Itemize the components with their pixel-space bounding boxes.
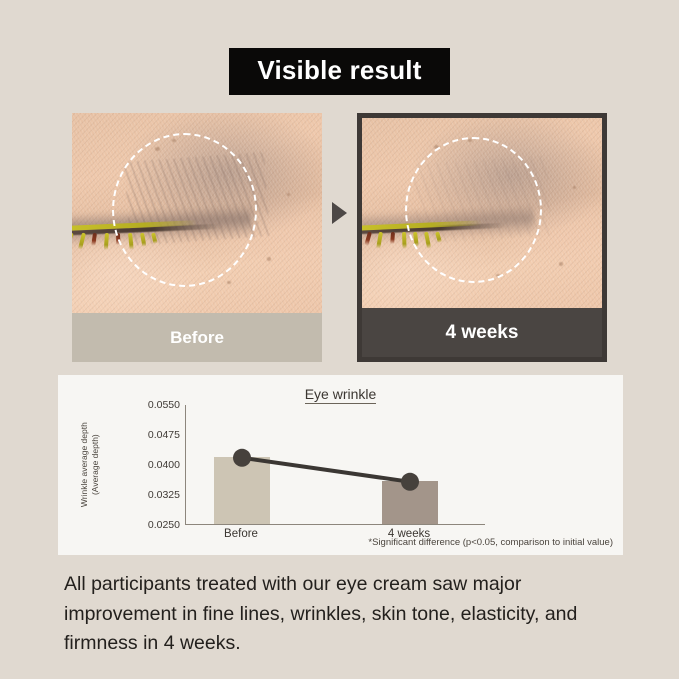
chart-plot-area xyxy=(185,405,485,525)
y-axis-tick: 0.0325 xyxy=(148,489,180,501)
pore xyxy=(227,281,231,284)
after-photo xyxy=(362,118,602,308)
before-panel: Before xyxy=(72,113,322,362)
trend-line xyxy=(186,405,486,525)
y-axis-tick: 0.0250 xyxy=(148,519,180,531)
y-axis-label-line1: Wrinkle average depth xyxy=(78,423,89,508)
pore xyxy=(287,193,290,196)
after-panel: 4 weeks xyxy=(357,113,607,362)
visible-result-badge: Visible result xyxy=(229,48,449,95)
y-axis-ticks: 0.05500.04750.04000.03250.0250 xyxy=(120,404,180,525)
y-axis-tick: 0.0550 xyxy=(148,399,180,411)
results-paragraph: All participants treated with our eye cr… xyxy=(64,570,624,659)
arrow-cell xyxy=(322,113,357,313)
pore xyxy=(267,257,271,261)
y-axis-label-line2: (Average depth) xyxy=(89,423,100,508)
chart-title-text: Eye wrinkle xyxy=(305,386,377,404)
triangle-right-icon xyxy=(332,202,347,224)
y-axis-label: Wrinkle average depth (Average depth) xyxy=(72,405,106,525)
y-axis-tick: 0.0400 xyxy=(148,459,180,471)
chart-footnote: *Significant difference (p<0.05, compari… xyxy=(368,537,613,548)
dashed-circle-icon xyxy=(112,133,257,287)
before-photo xyxy=(72,113,322,313)
y-axis-tick: 0.0475 xyxy=(148,429,180,441)
badge-row: Visible result xyxy=(0,48,679,95)
dashed-circle-icon xyxy=(405,137,542,283)
chart-card: Eye wrinkle Wrinkle average depth (Avera… xyxy=(58,375,623,555)
before-caption: Before xyxy=(72,313,322,362)
x-axis-tick: Before xyxy=(224,528,258,540)
after-caption: 4 weeks xyxy=(362,308,602,357)
before-after-comparison: Before xyxy=(72,113,607,362)
chart-title: Eye wrinkle xyxy=(58,386,623,402)
